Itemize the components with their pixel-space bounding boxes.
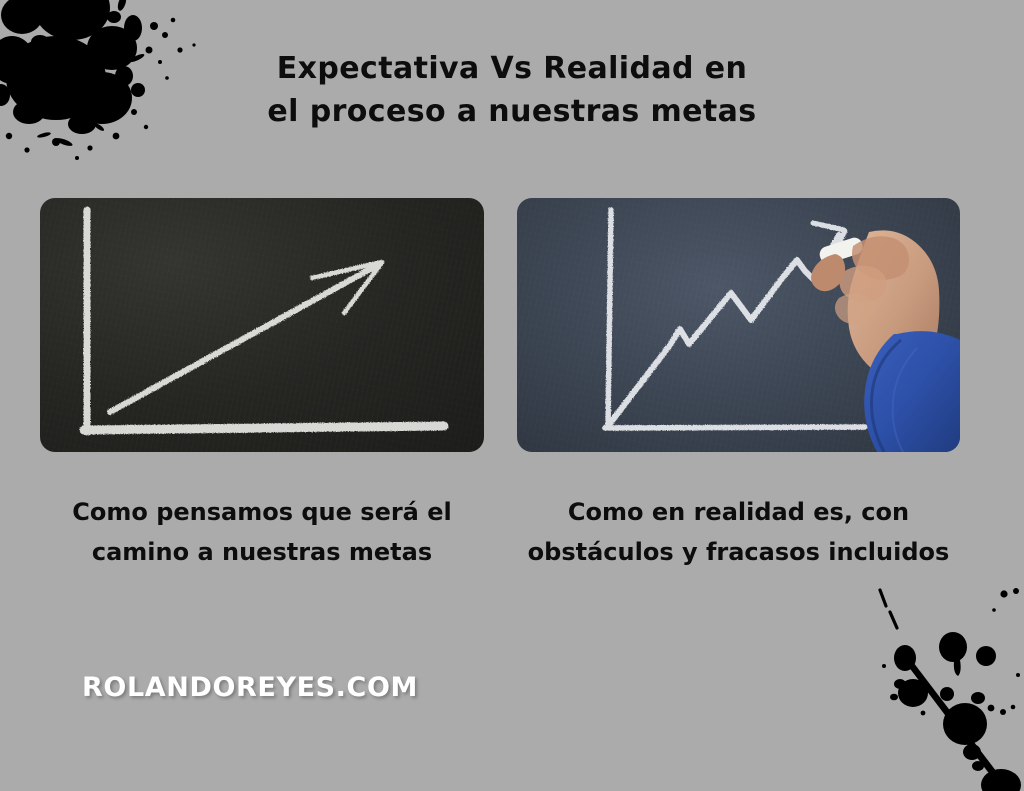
title-line-1: Expectativa Vs Realidad en bbox=[0, 47, 1024, 90]
page-title: Expectativa Vs Realidad en el proceso a … bbox=[0, 47, 1024, 133]
caption-left-line-2: camino a nuestras metas bbox=[40, 532, 484, 572]
image-expectativa-chalkboard bbox=[40, 198, 484, 452]
caption-expectativa: Como pensamos que será el camino a nuest… bbox=[40, 492, 484, 572]
caption-right-line-2: obstáculos y fracasos incluidos bbox=[517, 532, 960, 572]
title-line-2: el proceso a nuestras metas bbox=[0, 90, 1024, 133]
image-realidad-chalkboard bbox=[517, 198, 960, 452]
website-url[interactable]: ROLANDOREYES.COM bbox=[82, 672, 418, 703]
caption-right-line-1: Como en realidad es, con bbox=[517, 492, 960, 532]
poster-canvas: Expectativa Vs Realidad en el proceso a … bbox=[0, 0, 1024, 791]
ink-splatter-bottom-right-icon bbox=[853, 580, 1024, 791]
zigzag-arrow-chalk-drawing-with-hand bbox=[517, 198, 960, 452]
straight-arrow-chalk-drawing bbox=[40, 198, 484, 452]
caption-realidad: Como en realidad es, con obstáculos y fr… bbox=[517, 492, 960, 572]
caption-left-line-1: Como pensamos que será el bbox=[40, 492, 484, 532]
